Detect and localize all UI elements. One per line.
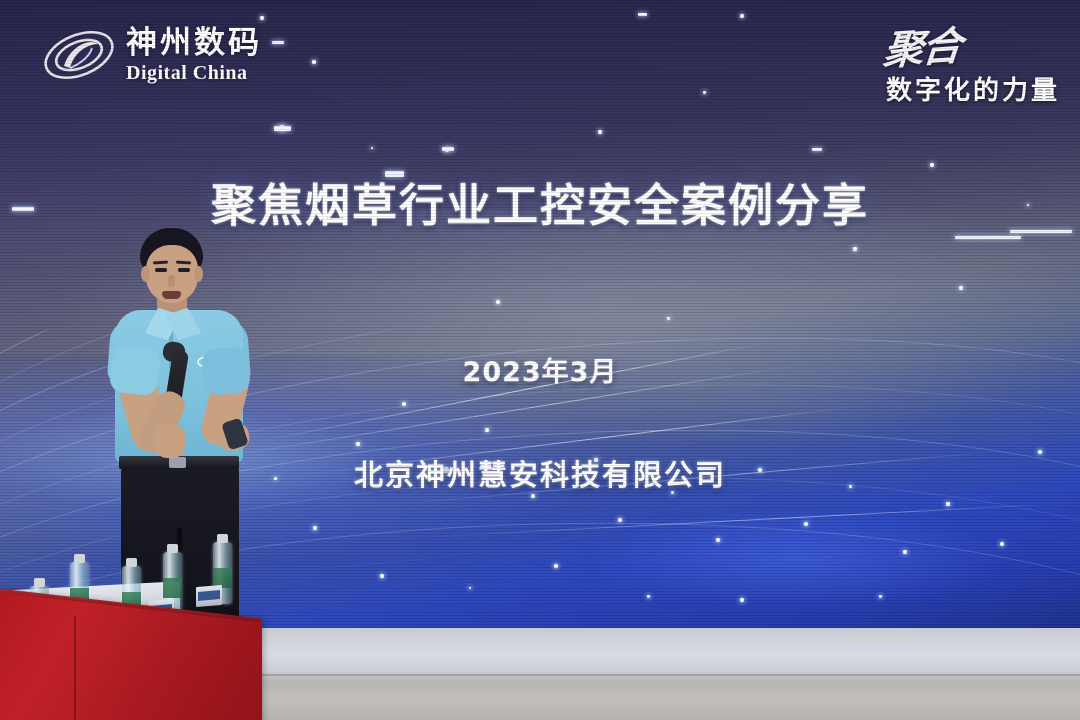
light-particle bbox=[946, 502, 949, 505]
light-dash bbox=[812, 148, 822, 151]
bottle-cap bbox=[126, 558, 137, 567]
light-particle bbox=[356, 442, 359, 445]
light-particle bbox=[485, 428, 489, 432]
light-particle bbox=[647, 595, 650, 598]
event-tagline: 数字化的力量 bbox=[810, 70, 1060, 107]
speaker-left-sleeve bbox=[109, 344, 162, 397]
light-particle bbox=[903, 550, 907, 554]
name-card bbox=[196, 585, 222, 607]
light-dash bbox=[274, 126, 291, 131]
digital-china-chinese-name: 神州数码 bbox=[126, 28, 262, 59]
light-particle bbox=[879, 595, 882, 598]
light-particle bbox=[703, 91, 706, 94]
light-particle bbox=[496, 300, 499, 303]
light-dash bbox=[955, 236, 1021, 239]
light-particle bbox=[598, 130, 602, 134]
digital-china-swirl-icon bbox=[40, 24, 118, 86]
speaker-right-sleeve bbox=[201, 346, 252, 397]
conference-stage-photo: 神州数码 Digital China 聚合 数字化的力量 聚焦烟草行业工控安全案… bbox=[0, 0, 1080, 720]
table-drape-fold bbox=[74, 616, 76, 720]
slide-main-title: 聚焦烟草行业工控安全案例分享 bbox=[0, 182, 1080, 229]
bottle-cap bbox=[74, 554, 85, 563]
bottle-cap bbox=[217, 534, 228, 543]
bottle-cap bbox=[167, 544, 178, 553]
light-dash bbox=[638, 13, 647, 16]
bottle-cap bbox=[34, 578, 45, 587]
light-particle bbox=[380, 574, 383, 577]
name-card-band bbox=[198, 590, 220, 601]
digital-china-english-name: Digital China bbox=[126, 63, 262, 83]
event-logo: 聚合 数字化的力量 bbox=[810, 16, 1060, 116]
digital-china-logo: 神州数码 Digital China bbox=[40, 18, 310, 92]
light-particle bbox=[716, 538, 720, 542]
speaker-right-ear bbox=[194, 266, 203, 282]
light-dash bbox=[442, 147, 454, 151]
light-particle bbox=[1000, 542, 1004, 546]
speaker-belt-buckle bbox=[169, 457, 186, 468]
speaker-left-ear bbox=[141, 266, 150, 282]
light-particle bbox=[312, 60, 315, 63]
light-particle bbox=[313, 526, 317, 530]
light-dash bbox=[1010, 230, 1072, 233]
digital-china-wordmark: 神州数码 Digital China bbox=[126, 28, 262, 83]
light-particle bbox=[853, 247, 856, 250]
speaker-left-hand-gripping-mic bbox=[155, 424, 185, 458]
bottle-label bbox=[163, 578, 182, 598]
light-dash bbox=[385, 171, 404, 177]
light-particle bbox=[959, 286, 963, 290]
speaker-mouth bbox=[162, 291, 181, 299]
speaker-nose bbox=[168, 275, 175, 287]
light-particle bbox=[740, 598, 743, 601]
light-particle bbox=[667, 317, 670, 320]
event-brush-calligraphy: 聚合 bbox=[881, 13, 963, 76]
speaker-right-eye bbox=[178, 268, 190, 272]
light-particle bbox=[554, 564, 558, 568]
speaker-left-eye bbox=[155, 268, 167, 272]
